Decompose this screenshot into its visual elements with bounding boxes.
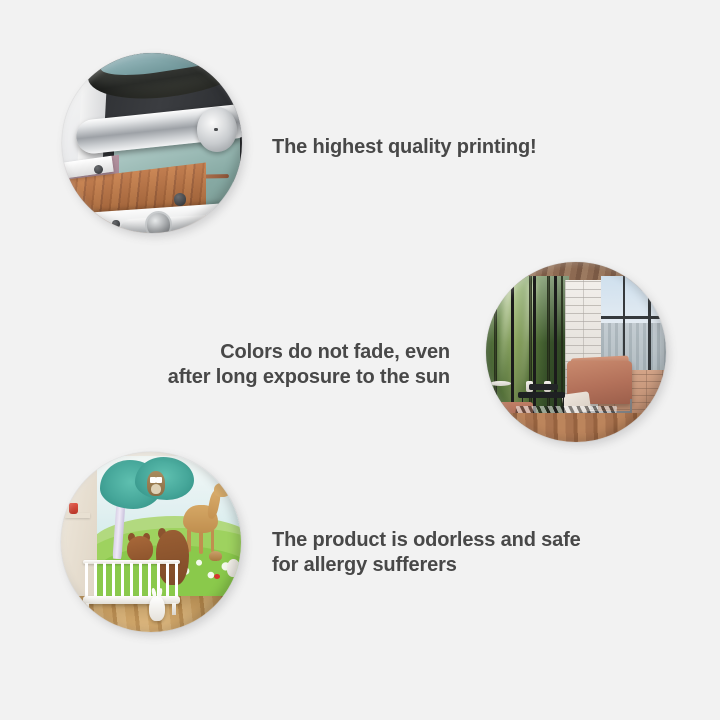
window-mullion-vertical-2 — [648, 276, 651, 380]
crib-bars — [85, 563, 178, 596]
mural-tree-canopy-right — [135, 457, 194, 500]
control-knob-front — [174, 193, 187, 206]
mural-deer-leg-3 — [211, 529, 215, 552]
caption-colour-fastness: Colors do not fade, even after long expo… — [150, 340, 450, 390]
mural-deer-head — [214, 483, 230, 497]
loft-interior-photo — [486, 262, 666, 442]
roller-end-cap — [197, 107, 237, 152]
mural-owl — [147, 471, 165, 495]
nursery-scene — [61, 452, 241, 632]
mural-bunny — [227, 559, 240, 576]
coffee-table-small — [529, 384, 558, 389]
red-jar — [69, 503, 78, 514]
roll-seascape-print — [98, 53, 242, 82]
caption-printing: The highest quality printing! — [272, 135, 537, 160]
control-knob-bottom — [112, 220, 119, 227]
loft-interior-scene — [486, 262, 666, 442]
mural-acorn — [209, 551, 222, 561]
plush-bunny-toy — [149, 596, 165, 621]
crib-bottom-rail — [83, 596, 180, 605]
caption-odorless: The product is odorless and safe for all… — [272, 528, 581, 578]
mural-bear-cub — [127, 536, 154, 562]
window-mullion-horizontal — [601, 316, 666, 319]
wooden-floor — [486, 413, 666, 442]
nursery-mural-photo — [61, 452, 241, 632]
crib-leg-right — [172, 603, 176, 615]
roller-hub — [145, 211, 172, 233]
printing-press-photo — [62, 53, 242, 233]
crib-leg-left — [86, 603, 90, 615]
printing-press-scene — [62, 53, 242, 233]
promo-feature-banner: The highest quality printing! — [0, 0, 720, 720]
wall-shelf — [65, 513, 90, 518]
mural-deer-leg-2 — [199, 530, 203, 553]
control-knob-left — [94, 165, 103, 174]
baby-crib — [83, 560, 180, 614]
